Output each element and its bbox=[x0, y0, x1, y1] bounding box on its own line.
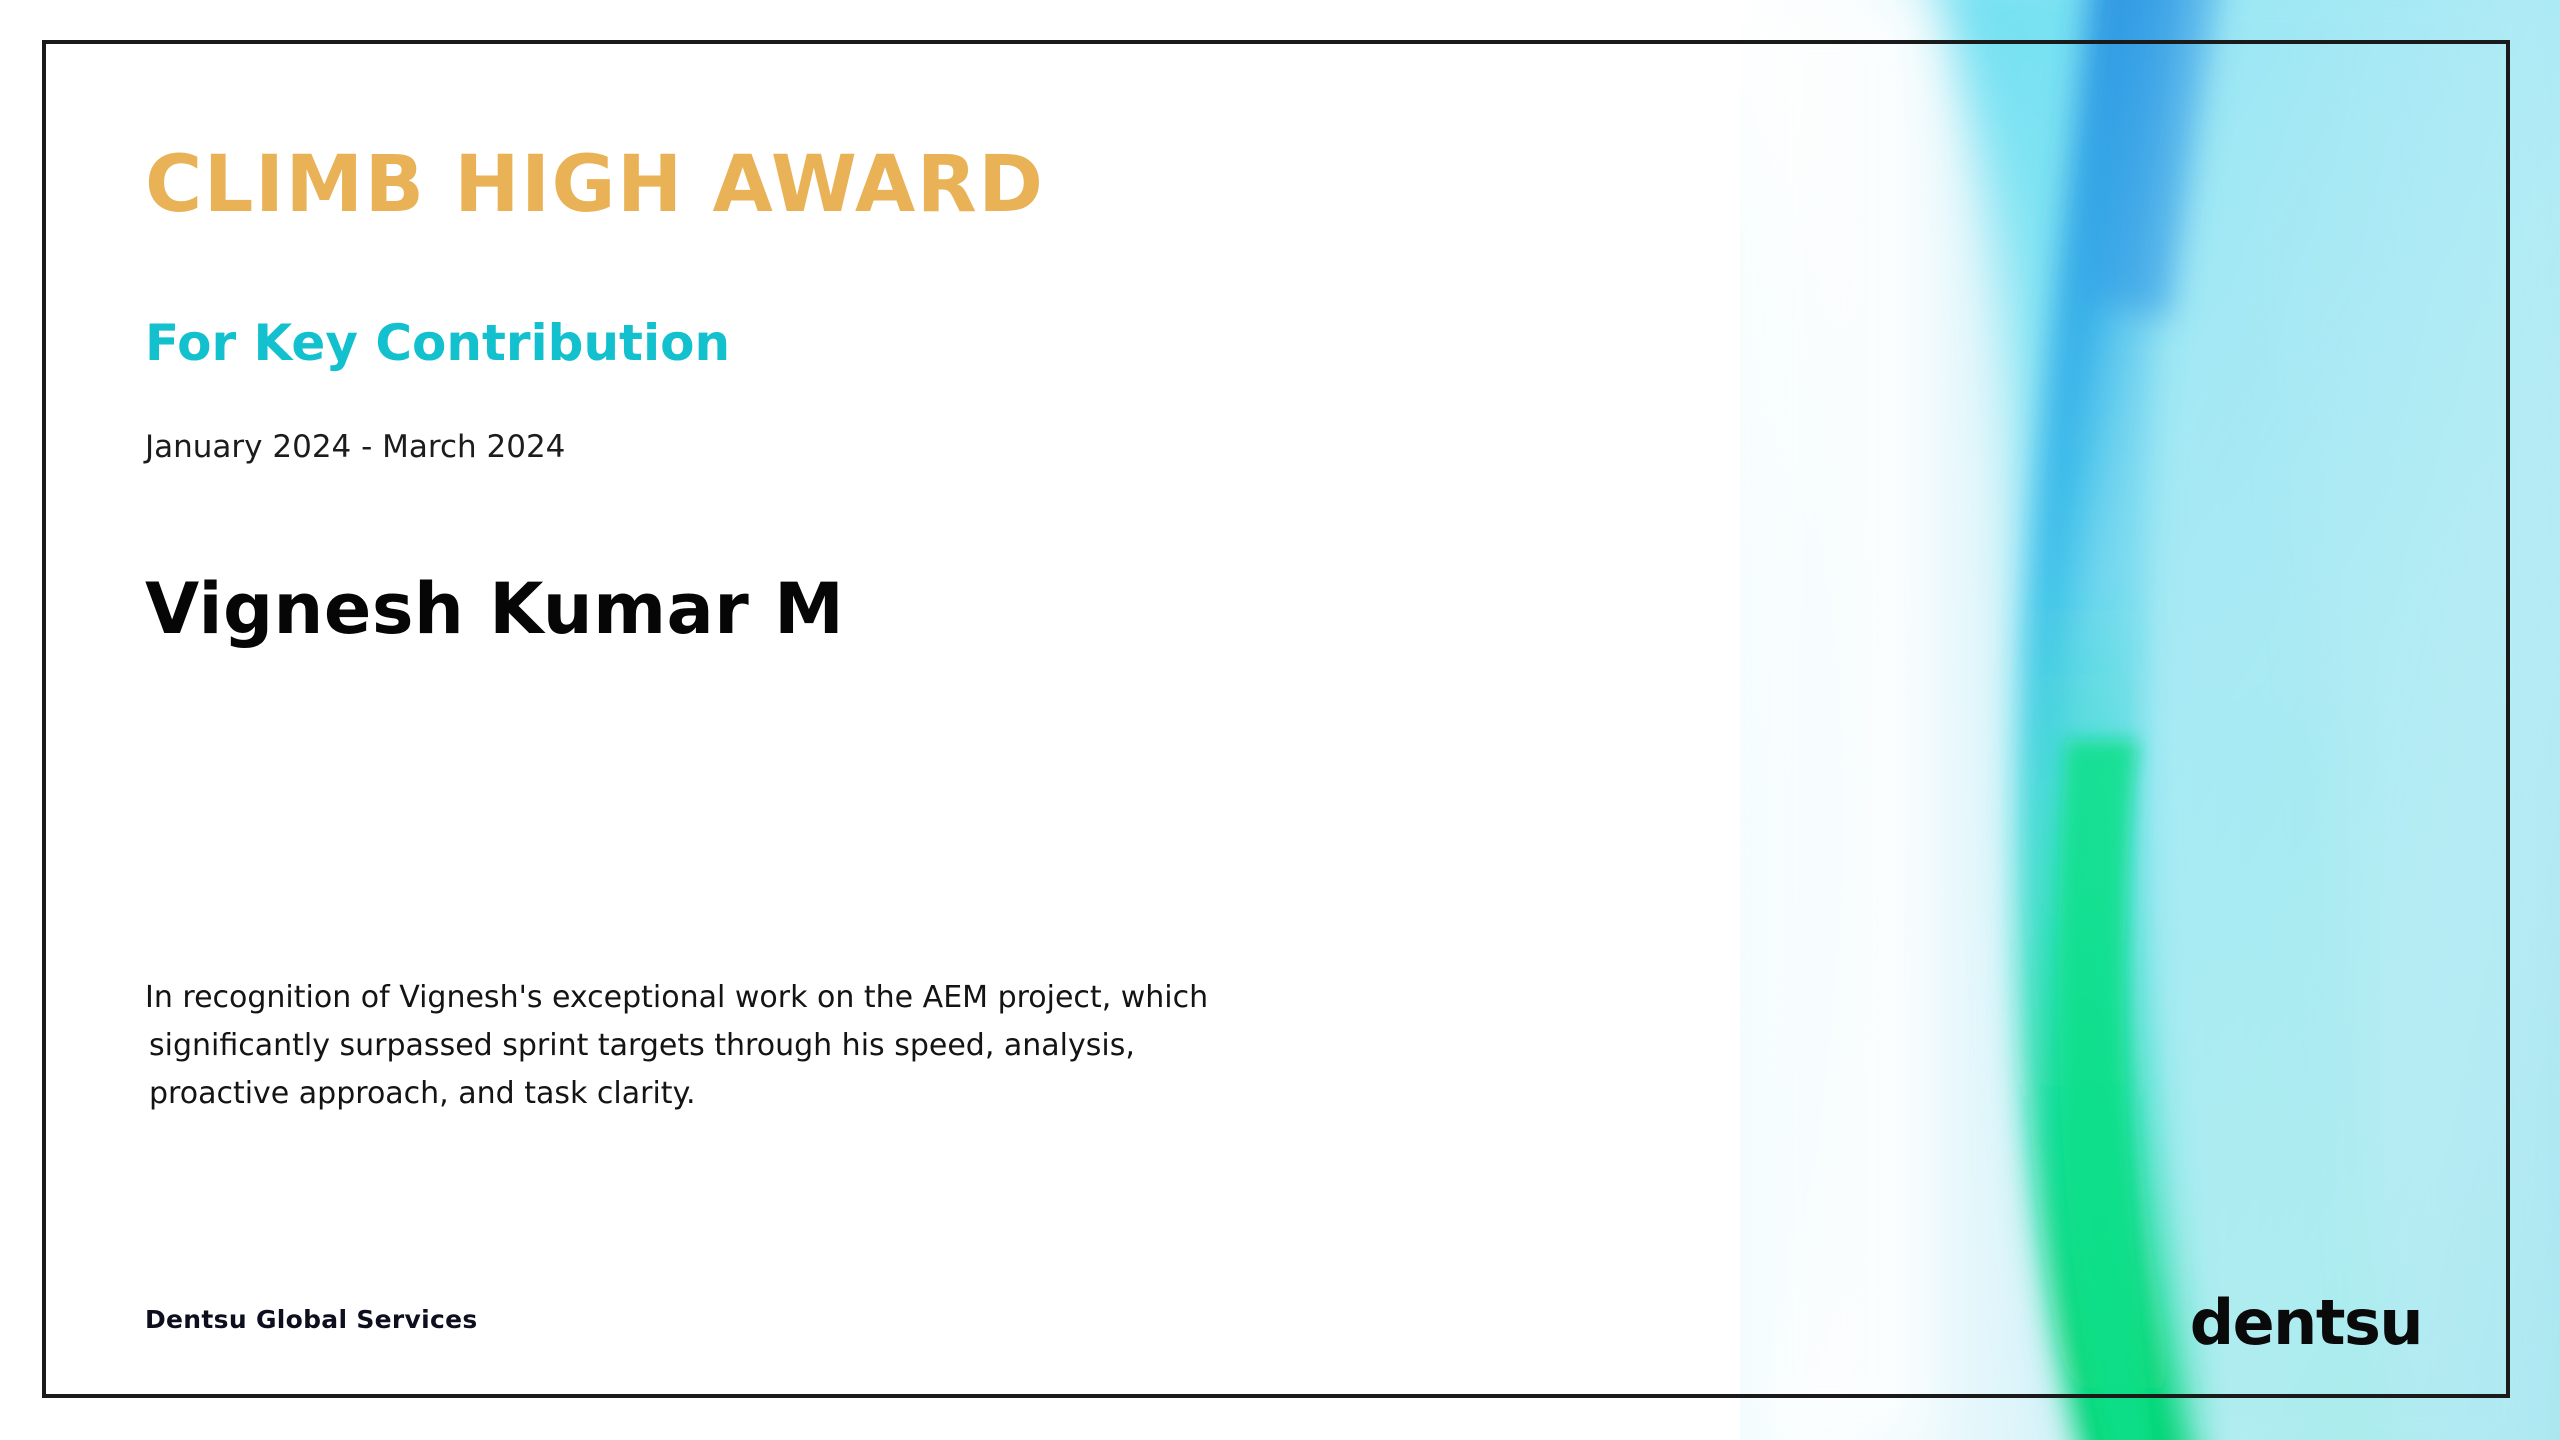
citation-line: In recognition of Vignesh's exceptional … bbox=[145, 974, 1615, 1022]
award-subtitle: For Key Contribution bbox=[145, 318, 730, 368]
gradient-swoosh-artwork bbox=[1740, 0, 2560, 1440]
page-title: CLIMB HIGH AWARD bbox=[145, 146, 1045, 224]
award-period: January 2024 - March 2024 bbox=[145, 432, 565, 463]
recipient-name: Vignesh Kumar M bbox=[145, 574, 844, 644]
citation-line: significantly surpassed sprint targets t… bbox=[145, 1022, 1615, 1070]
citation-text: In recognition of Vignesh's exceptional … bbox=[145, 974, 1615, 1118]
certificate-content: CLIMB HIGH AWARD For Key Contribution Ja… bbox=[145, 0, 1765, 1440]
certificate-slide: CLIMB HIGH AWARD For Key Contribution Ja… bbox=[0, 0, 2560, 1440]
citation-line: proactive approach, and task clarity. bbox=[145, 1070, 1615, 1118]
organization-name: Dentsu Global Services bbox=[145, 1307, 478, 1332]
dentsu-logo: dentsu bbox=[2190, 1292, 2422, 1354]
